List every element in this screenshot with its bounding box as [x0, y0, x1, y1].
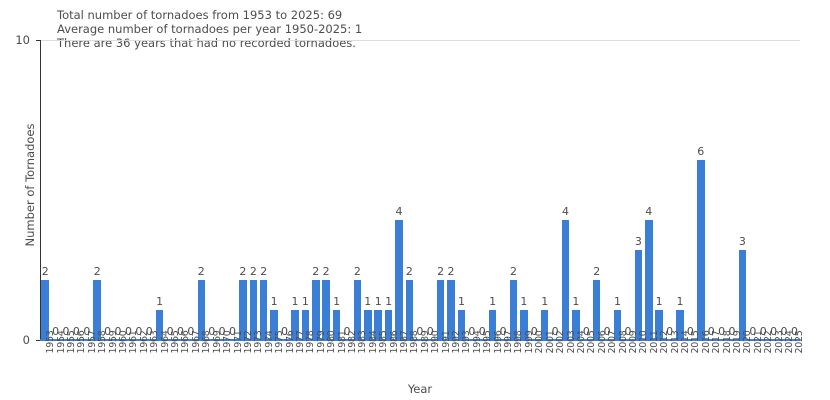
bar-item[interactable]: 1: [519, 40, 529, 340]
bar-value-label: 2: [406, 265, 413, 278]
bar-value-label: 1: [271, 295, 278, 308]
x-tick: 1980: [321, 341, 331, 381]
x-tick: 2000: [529, 341, 539, 381]
bar-value-label: 2: [94, 265, 101, 278]
bar-value-label: 1: [156, 295, 163, 308]
x-tick: 2016: [696, 341, 706, 381]
bar-item[interactable]: 2: [446, 40, 456, 340]
bar-item[interactable]: 1: [487, 40, 497, 340]
bar-item[interactable]: 0: [175, 40, 185, 340]
bar-value-label: 4: [645, 205, 652, 218]
bar-item[interactable]: 0: [61, 40, 71, 340]
bar-item[interactable]: 1: [300, 40, 310, 340]
bar-item[interactable]: 0: [716, 40, 726, 340]
bar-item[interactable]: 1: [675, 40, 685, 340]
x-tick: 1954: [50, 341, 60, 381]
bar-value-label: 2: [312, 265, 319, 278]
bar-item[interactable]: 2: [404, 40, 414, 340]
x-tick: 1979: [311, 341, 321, 381]
bar-item[interactable]: 0: [102, 40, 112, 340]
bar-item[interactable]: 2: [435, 40, 445, 340]
x-tick: 1993: [456, 341, 466, 381]
bar-item[interactable]: 1: [363, 40, 373, 340]
bar-value-label: 1: [656, 295, 663, 308]
bar-item[interactable]: 1: [331, 40, 341, 340]
x-tick: 1973: [248, 341, 258, 381]
bar-item[interactable]: 0: [789, 40, 799, 340]
x-tick: 1977: [290, 341, 300, 381]
bar[interactable]: [635, 250, 642, 340]
y-tick-label-10: 10: [0, 33, 30, 47]
x-tick: 1996: [487, 341, 497, 381]
x-tick: 1976: [279, 341, 289, 381]
bar-item[interactable]: 3: [737, 40, 747, 340]
bar-value-label: 2: [42, 265, 49, 278]
bar-value-label: 2: [323, 265, 330, 278]
x-tick: 1987: [394, 341, 404, 381]
x-tick: 2018: [716, 341, 726, 381]
bar-item[interactable]: 0: [82, 40, 92, 340]
bar-value-label: 4: [562, 205, 569, 218]
bar-value-label: 1: [572, 295, 579, 308]
x-tick: 1985: [373, 341, 383, 381]
x-tick: 2021: [748, 341, 758, 381]
bar-item[interactable]: 0: [664, 40, 674, 340]
bar-item[interactable]: 0: [779, 40, 789, 340]
bar-item[interactable]: 2: [92, 40, 102, 340]
x-tick: 2003: [560, 341, 570, 381]
bar-item[interactable]: 1: [571, 40, 581, 340]
bar-value-label: 2: [198, 265, 205, 278]
x-tick: 1982: [342, 341, 352, 381]
x-tick: 1986: [383, 341, 393, 381]
bar-item[interactable]: 0: [758, 40, 768, 340]
bar-item[interactable]: 0: [113, 40, 123, 340]
bar-item[interactable]: 1: [269, 40, 279, 340]
bar-item[interactable]: 0: [144, 40, 154, 340]
bar-value-label: 1: [302, 295, 309, 308]
bar-item[interactable]: 0: [685, 40, 695, 340]
y-tick-label-0: 0: [0, 333, 30, 347]
bar-item[interactable]: 0: [50, 40, 60, 340]
bar-item[interactable]: 0: [134, 40, 144, 340]
bar-value-label: 2: [250, 265, 257, 278]
bar-value-label: 1: [489, 295, 496, 308]
x-tick: 1966: [175, 341, 185, 381]
x-tick: 2013: [664, 341, 674, 381]
bar-item[interactable]: 0: [207, 40, 217, 340]
x-axis-label: Year: [40, 382, 800, 396]
x-tick: 1963: [144, 341, 154, 381]
bar-value-label: 3: [635, 235, 642, 248]
bar-series: 2000020000010002000222101122102111420022…: [40, 40, 800, 340]
x-tick: 2010: [633, 341, 643, 381]
bar-item[interactable]: 0: [768, 40, 778, 340]
bar-item[interactable]: 0: [727, 40, 737, 340]
x-tick: 1988: [404, 341, 414, 381]
bar-value-label: 1: [520, 295, 527, 308]
x-tick: 1975: [269, 341, 279, 381]
bar-item[interactable]: 0: [425, 40, 435, 340]
x-tick: 1969: [207, 341, 217, 381]
bar-item[interactable]: 4: [560, 40, 570, 340]
bar-value-label: 1: [614, 295, 621, 308]
bar-item[interactable]: 1: [540, 40, 550, 340]
x-tick: 1960: [113, 341, 123, 381]
x-tick: 2024: [779, 341, 789, 381]
x-tick: 2006: [592, 341, 602, 381]
y-axis-label: Number of Tornadoes: [23, 85, 37, 285]
bar-item[interactable]: 0: [550, 40, 560, 340]
x-tick: 2007: [602, 341, 612, 381]
bar-item[interactable]: 0: [748, 40, 758, 340]
x-tick: 1971: [227, 341, 237, 381]
bar-item[interactable]: 1: [456, 40, 466, 340]
bar-item[interactable]: 0: [227, 40, 237, 340]
x-tick: 1959: [102, 341, 112, 381]
bar-item[interactable]: 0: [498, 40, 508, 340]
bar-item[interactable]: 2: [40, 40, 50, 340]
x-tick: 1972: [238, 341, 248, 381]
bar-item[interactable]: 0: [186, 40, 196, 340]
bar-value-label: 1: [541, 295, 548, 308]
bar[interactable]: [395, 220, 402, 340]
bar-value-label: 2: [448, 265, 455, 278]
bar-item[interactable]: 3: [633, 40, 643, 340]
bar-item[interactable]: 2: [248, 40, 258, 340]
x-tick: 2025: [789, 341, 799, 381]
bar-value-label: 1: [676, 295, 683, 308]
bar-value-label: 2: [593, 265, 600, 278]
bar-item[interactable]: 0: [279, 40, 289, 340]
bar[interactable]: [645, 220, 652, 340]
x-tick: 2011: [644, 341, 654, 381]
bar-item[interactable]: 1: [383, 40, 393, 340]
x-tick: 1958: [92, 341, 102, 381]
bar-item[interactable]: 2: [311, 40, 321, 340]
bar-item[interactable]: 0: [581, 40, 591, 340]
x-tick: 1981: [331, 341, 341, 381]
bar-value-label: 3: [739, 235, 746, 248]
x-tick: 1991: [435, 341, 445, 381]
x-tick: 1974: [259, 341, 269, 381]
bar-item[interactable]: 2: [321, 40, 331, 340]
bar-value-label: 1: [291, 295, 298, 308]
x-tick: 1970: [217, 341, 227, 381]
bar-item[interactable]: 2: [238, 40, 248, 340]
bar-value-label: 1: [364, 295, 371, 308]
x-tick: 2015: [685, 341, 695, 381]
x-tick: 2022: [758, 341, 768, 381]
bar-item[interactable]: 1: [290, 40, 300, 340]
bar[interactable]: [739, 250, 746, 340]
bar-item[interactable]: 0: [623, 40, 633, 340]
bar-item[interactable]: 2: [508, 40, 518, 340]
bar-item[interactable]: 0: [467, 40, 477, 340]
bar-item[interactable]: 0: [706, 40, 716, 340]
bar-value-label: 1: [385, 295, 392, 308]
bar[interactable]: [697, 160, 704, 340]
x-tick: 1965: [165, 341, 175, 381]
bar-item[interactable]: 1: [154, 40, 164, 340]
x-tick: 2002: [550, 341, 560, 381]
x-tick: 1997: [498, 341, 508, 381]
bar-item[interactable]: 1: [612, 40, 622, 340]
x-tick: 1995: [477, 341, 487, 381]
annotation-average: Average number of tornadoes per year 195…: [57, 22, 362, 36]
x-tick: 2014: [675, 341, 685, 381]
bar-item[interactable]: 6: [696, 40, 706, 340]
bar-item[interactable]: 0: [123, 40, 133, 340]
bar-item[interactable]: 0: [165, 40, 175, 340]
x-tick: 1978: [300, 341, 310, 381]
bar-item[interactable]: 0: [217, 40, 227, 340]
bar-item[interactable]: 0: [477, 40, 487, 340]
bar-item[interactable]: 1: [373, 40, 383, 340]
x-tick: 1983: [352, 341, 362, 381]
x-tick: 2008: [612, 341, 622, 381]
x-tick: 1999: [519, 341, 529, 381]
bar-item[interactable]: 2: [259, 40, 269, 340]
x-tick: 1989: [415, 341, 425, 381]
x-tick: 1998: [508, 341, 518, 381]
bar-item[interactable]: 1: [654, 40, 664, 340]
bar-value-label: 1: [333, 295, 340, 308]
x-tick: 1968: [196, 341, 206, 381]
bar-item[interactable]: 0: [529, 40, 539, 340]
bar-value-label: 1: [458, 295, 465, 308]
x-tick: 2017: [706, 341, 716, 381]
x-tick: 1984: [363, 341, 373, 381]
annotation-total: Total number of tornadoes from 1953 to 2…: [57, 8, 362, 22]
x-tick: 2005: [581, 341, 591, 381]
bar-item[interactable]: 0: [602, 40, 612, 340]
bar-value-label: 4: [396, 205, 403, 218]
x-tick: 1962: [134, 341, 144, 381]
bar-item[interactable]: 0: [342, 40, 352, 340]
x-tick-label: 2025: [794, 331, 805, 354]
x-tick: 2012: [654, 341, 664, 381]
bar-item[interactable]: 0: [415, 40, 425, 340]
tornado-bar-chart-figure: Total number of tornadoes from 1953 to 2…: [0, 0, 830, 400]
bar-item[interactable]: 4: [394, 40, 404, 340]
bar-item[interactable]: 2: [352, 40, 362, 340]
x-tick: 2023: [768, 341, 778, 381]
bar-value-label: 2: [354, 265, 361, 278]
x-tick: 2020: [737, 341, 747, 381]
bar-value-label: 6: [697, 145, 704, 158]
x-tick: 1961: [123, 341, 133, 381]
x-tick-labels: 1953195419551956195719581959196019611962…: [40, 341, 800, 381]
bar-value-label: 2: [437, 265, 444, 278]
x-tick: 1957: [82, 341, 92, 381]
bar-value-label: 1: [375, 295, 382, 308]
x-tick: 1964: [154, 341, 164, 381]
x-tick: 1992: [446, 341, 456, 381]
bar-value-label: 2: [260, 265, 267, 278]
x-tick: 1994: [467, 341, 477, 381]
x-tick: 2004: [571, 341, 581, 381]
bar-item[interactable]: 0: [71, 40, 81, 340]
x-tick: 1956: [71, 341, 81, 381]
bar[interactable]: [562, 220, 569, 340]
x-tick: 1967: [186, 341, 196, 381]
bar-item[interactable]: 2: [592, 40, 602, 340]
x-tick: 2009: [623, 341, 633, 381]
bar-value-label: 2: [239, 265, 246, 278]
x-tick: 2001: [540, 341, 550, 381]
x-tick: 1955: [61, 341, 71, 381]
bar-item[interactable]: 2: [196, 40, 206, 340]
bar-value-label: 2: [510, 265, 517, 278]
bar-item[interactable]: 4: [644, 40, 654, 340]
x-tick: 2019: [727, 341, 737, 381]
x-tick: 1953: [40, 341, 50, 381]
x-tick: 1990: [425, 341, 435, 381]
